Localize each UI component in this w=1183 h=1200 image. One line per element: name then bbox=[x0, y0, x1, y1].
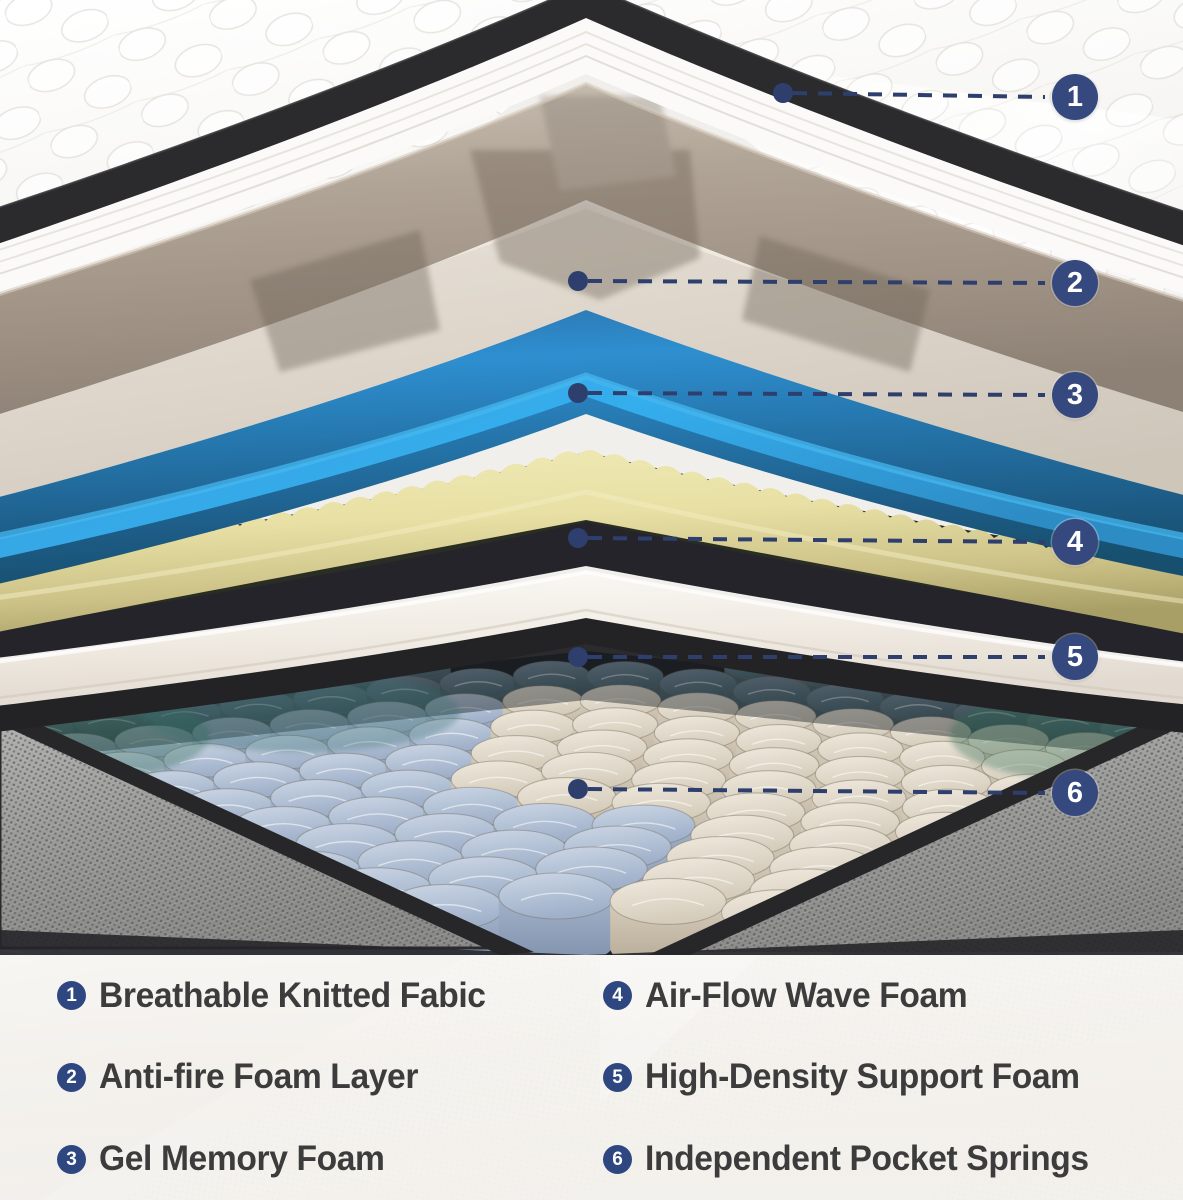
mattress-layer-infographic: 123456 1Breathable Knitt bbox=[0, 0, 1183, 1200]
legend-label-4: Air-Flow Wave Foam bbox=[645, 976, 967, 1016]
legend-badge-4: 4 bbox=[603, 981, 632, 1010]
legend-badge-1: 1 bbox=[57, 981, 86, 1010]
callout-badge-6[interactable]: 6 bbox=[1052, 770, 1098, 816]
legend-item-5: 5High-Density Support Foam bbox=[592, 1057, 1183, 1097]
legend-badge-6: 6 bbox=[603, 1145, 632, 1174]
legend-item-1: 1Breathable Knitted Fabic bbox=[0, 976, 592, 1016]
mattress-cutaway-illustration: 123456 bbox=[0, 0, 1183, 955]
legend-item-3: 3Gel Memory Foam bbox=[0, 1139, 592, 1179]
legend-badge-5: 5 bbox=[603, 1063, 632, 1092]
callout-badge-4[interactable]: 4 bbox=[1052, 519, 1098, 565]
legend-label-2: Anti-fire Foam Layer bbox=[99, 1057, 418, 1097]
legend-badge-2: 2 bbox=[57, 1063, 86, 1092]
legend-item-4: 4Air-Flow Wave Foam bbox=[592, 976, 1183, 1016]
legend-item-6: 6Independent Pocket Springs bbox=[592, 1139, 1183, 1179]
legend-panel: 1Breathable Knitted Fabic4Air-Flow Wave … bbox=[0, 955, 1183, 1200]
legend-badge-3: 3 bbox=[57, 1145, 86, 1174]
callout-badge-1[interactable]: 1 bbox=[1052, 74, 1098, 120]
cutaway-artwork bbox=[0, 0, 1183, 955]
legend-label-6: Independent Pocket Springs bbox=[645, 1139, 1089, 1179]
legend-label-5: High-Density Support Foam bbox=[645, 1057, 1080, 1097]
callout-badge-5[interactable]: 5 bbox=[1052, 634, 1098, 680]
callout-badge-3[interactable]: 3 bbox=[1052, 372, 1098, 418]
legend-item-2: 2Anti-fire Foam Layer bbox=[0, 1057, 592, 1097]
callout-badge-2[interactable]: 2 bbox=[1052, 260, 1098, 306]
legend-rows: 1Breathable Knitted Fabic4Air-Flow Wave … bbox=[0, 955, 1183, 1200]
legend-label-3: Gel Memory Foam bbox=[99, 1139, 385, 1179]
legend-label-1: Breathable Knitted Fabic bbox=[99, 976, 486, 1016]
